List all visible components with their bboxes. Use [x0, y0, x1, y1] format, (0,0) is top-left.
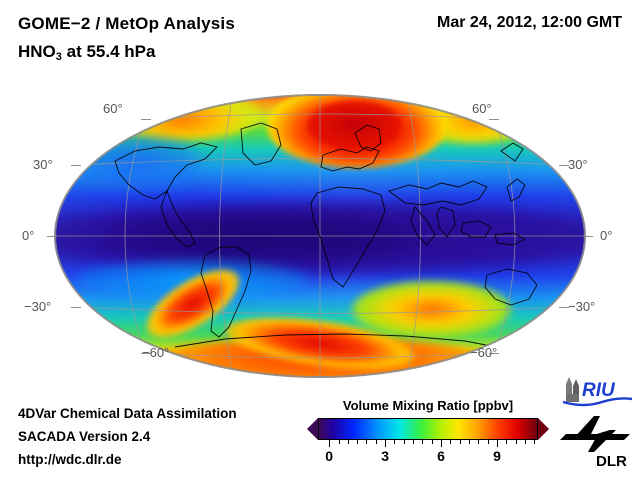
lat-label-left-60: 60° [103, 101, 123, 116]
colorbar-minor-tick [413, 440, 414, 444]
colorbar-over-arrow [538, 418, 549, 440]
lat-label-right-60: 60° [472, 101, 492, 116]
lat-label-right-30: 30° [568, 157, 588, 172]
riu-tower-icon [566, 377, 579, 402]
lat-label-right-m30: −30° [568, 299, 595, 314]
colorbar-minor-tick [339, 440, 340, 444]
colorbar-minor-tick [357, 440, 358, 444]
colorbar-ticks [318, 440, 538, 447]
lat-label-left-30: 30° [33, 157, 53, 172]
colorbar: Volume Mixing Ratio [ppbv] 0369 [318, 398, 538, 466]
global-map [55, 95, 585, 377]
colorbar-minor-tick [450, 440, 451, 444]
lat-tick-left-60 [141, 119, 151, 120]
colorbar-minor-tick [432, 440, 433, 444]
colorbar-minor-tick [422, 440, 423, 444]
colorbar-minor-tick [525, 440, 526, 444]
colorbar-minor-tick [534, 440, 535, 444]
colorbar-minor-tick [348, 440, 349, 444]
colorbar-minor-tick [366, 440, 367, 444]
coastlines [55, 95, 585, 377]
colorbar-minor-tick [469, 440, 470, 444]
lat-tick-left-30 [71, 165, 81, 166]
colorbar-major-tick [385, 440, 386, 447]
dlr-mark-icon [560, 416, 630, 452]
colorbar-major-tick [329, 440, 330, 447]
lat-label-right-m60: −60° [470, 345, 497, 360]
subtitle-subscript: 3 [56, 51, 62, 63]
colorbar-minor-tick [478, 440, 479, 444]
colorbar-strip [318, 418, 538, 440]
lat-label-left-0: 0° [22, 228, 34, 243]
riu-logo: RIU [558, 374, 636, 408]
credits-block: 4DVar Chemical Data Assimilation SACADA … [18, 402, 237, 471]
colorbar-minor-tick [404, 440, 405, 444]
colorbar-tick-label: 9 [493, 448, 501, 464]
colorbar-minor-tick [394, 440, 395, 444]
colorbar-tick-label: 3 [381, 448, 389, 464]
colorbar-under-arrow [307, 418, 318, 440]
colorbar-minor-tick [506, 440, 507, 444]
colorbar-tick-label: 0 [325, 448, 333, 464]
colorbar-minor-tick [376, 440, 377, 444]
credit-line-version: SACADA Version 2.4 [18, 425, 237, 448]
credit-line-method: 4DVar Chemical Data Assimilation [18, 402, 237, 425]
lat-tick-left-m30 [71, 307, 81, 308]
colorbar-tick-label: 6 [437, 448, 445, 464]
lat-tick-right-60 [489, 119, 499, 120]
lat-tick-right-0 [583, 236, 593, 237]
figure-canvas: GOME−2 / MetOp Analysis HNO3 at 55.4 hPa… [0, 0, 640, 480]
lat-label-left-m60: −60° [142, 345, 169, 360]
subtitle-level: at 55.4 hPa [62, 42, 156, 61]
colorbar-title: Volume Mixing Ratio [ppbv] [318, 398, 538, 413]
dlr-wordmark: DLR [596, 453, 627, 470]
lat-tick-left-0 [47, 236, 57, 237]
subtitle-species: HNO [18, 42, 56, 61]
riu-wordmark: RIU [582, 380, 616, 401]
timestamp: Mar 24, 2012, 12:00 GMT [437, 14, 622, 32]
colorbar-minor-tick [516, 440, 517, 444]
colorbar-major-tick [441, 440, 442, 447]
colorbar-minor-tick [488, 440, 489, 444]
map-data-field [55, 95, 585, 377]
colorbar-gradient [318, 418, 538, 440]
dlr-logo: DLR [560, 414, 636, 470]
lat-label-right-0: 0° [600, 228, 612, 243]
lat-label-left-m30: −30° [24, 299, 51, 314]
page-title: GOME−2 / MetOp Analysis [18, 14, 235, 34]
colorbar-tick-labels: 0369 [318, 448, 538, 466]
page-subtitle: HNO3 at 55.4 hPa [18, 42, 155, 62]
colorbar-major-tick [497, 440, 498, 447]
credit-line-url: http://wdc.dlr.de [18, 448, 237, 471]
colorbar-minor-tick [460, 440, 461, 444]
